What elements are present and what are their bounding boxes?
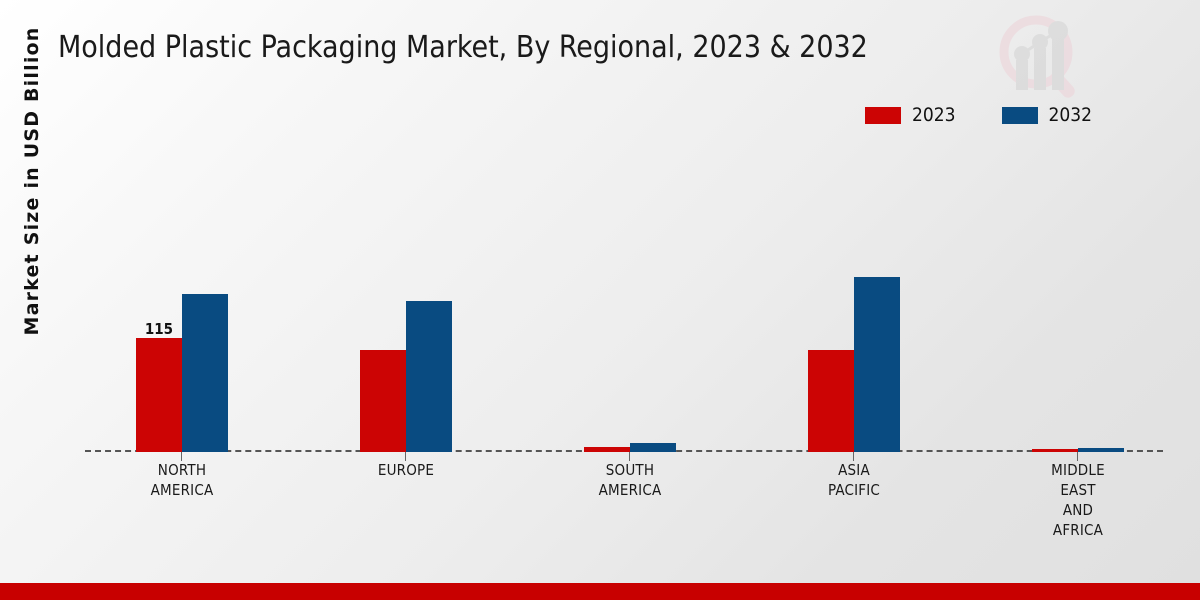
plot-area: 115 (45, 150, 1163, 452)
x-axis-label-north-america: NORTH AMERICA (112, 460, 252, 500)
legend-label-2023: 2023 (912, 104, 956, 126)
bar-north-america-2023[interactable] (136, 338, 182, 452)
x-axis-label-north-america-line-2: AMERICA (112, 480, 252, 500)
market-research-magnifier-logo-icon (988, 8, 1092, 108)
x-axis-label-europe: EUROPE (336, 460, 476, 480)
bar-europe-2023[interactable] (360, 350, 406, 452)
legend-item-2032[interactable]: 2032 (1002, 104, 1093, 126)
chart-legend: 2023 2032 (865, 104, 1092, 126)
legend-swatch-2023-icon (865, 107, 901, 124)
bar-middle-east-and-africa-2023[interactable] (1032, 449, 1078, 452)
chart-title: Molded Plastic Packaging Market, By Regi… (58, 30, 998, 65)
bar-group-middle-east-and-africa (1008, 150, 1148, 452)
x-axis-label-asia-pacific-line-2: PACIFIC (784, 480, 924, 500)
x-axis-label-asia-pacific: ASIA PACIFIC (784, 460, 924, 500)
x-axis-label-middle-east-and-africa-line-2: EAST (1008, 480, 1148, 500)
legend-label-2032: 2032 (1049, 104, 1093, 126)
x-axis-label-north-america-line-1: NORTH (112, 460, 252, 480)
legend-item-2023[interactable]: 2023 (865, 104, 956, 126)
x-axis-label-middle-east-and-africa-line-1: MIDDLE (1008, 460, 1148, 480)
x-axis-label-south-america-line-1: SOUTH (560, 460, 700, 480)
x-axis-label-middle-east-and-africa: MIDDLE EAST AND AFRICA (1008, 460, 1148, 540)
x-axis-label-south-america: SOUTH AMERICA (560, 460, 700, 500)
bar-asia-pacific-2032[interactable] (854, 277, 900, 452)
chart-container: Molded Plastic Packaging Market, By Regi… (0, 0, 1200, 600)
bar-south-america-2032[interactable] (630, 443, 676, 452)
x-axis-label-middle-east-and-africa-line-4: AFRICA (1008, 520, 1148, 540)
bar-group-south-america (560, 150, 700, 452)
bar-group-europe (336, 150, 476, 452)
bar-wrap-2023-north-america: 115 (136, 338, 182, 452)
x-axis-label-asia-pacific-line-1: ASIA (784, 460, 924, 480)
y-axis-title: Market Size in USD Billion (21, 1, 43, 361)
legend-swatch-2032-icon (1002, 107, 1038, 124)
bar-middle-east-and-africa-2032[interactable] (1078, 448, 1124, 452)
x-axis-label-south-america-line-2: AMERICA (560, 480, 700, 500)
bar-europe-2032[interactable] (406, 301, 452, 452)
footer-accent-bar (0, 583, 1200, 600)
bar-south-america-2023[interactable] (584, 447, 630, 452)
bar-asia-pacific-2023[interactable] (808, 350, 854, 452)
x-axis-label-europe-line-1: EUROPE (336, 460, 476, 480)
bar-group-asia-pacific (784, 150, 924, 452)
x-axis-label-middle-east-and-africa-line-3: AND (1008, 500, 1148, 520)
bar-value-label-north-america-2023: 115 (136, 320, 182, 338)
bar-north-america-2032[interactable] (182, 294, 228, 452)
bar-group-north-america: 115 (112, 150, 252, 452)
